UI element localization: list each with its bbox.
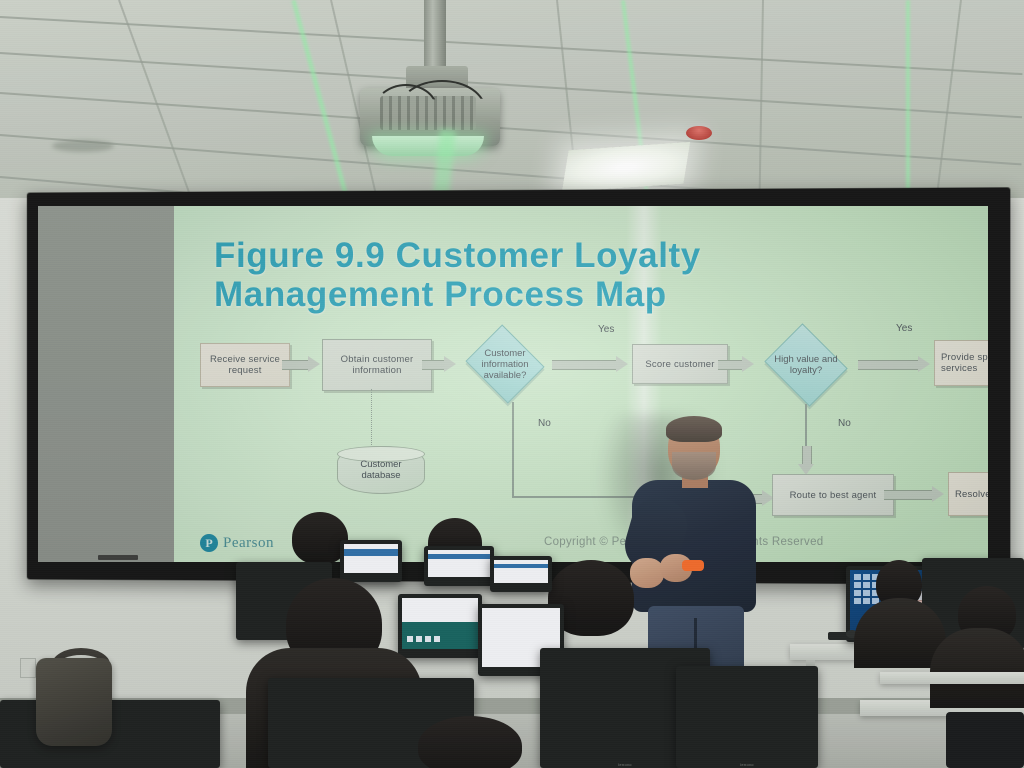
laptop-screen <box>428 550 490 577</box>
fluorescent-light-panel <box>562 142 690 192</box>
monitor: lenovo <box>676 666 818 768</box>
window-titlebar <box>494 564 548 569</box>
presenter-hair <box>666 416 722 442</box>
screen-window <box>494 560 548 583</box>
backpack <box>36 658 112 746</box>
classroom-photo-scene: Figure 9.9 Customer Loyalty Management P… <box>0 0 1024 768</box>
smoke-detector-icon <box>686 126 712 140</box>
presenter <box>622 418 762 678</box>
board-unlit-area <box>38 206 174 562</box>
laptop-screen <box>344 544 398 573</box>
monitor <box>398 594 482 658</box>
screen-window <box>402 598 478 622</box>
screen-teal-window <box>402 598 478 649</box>
projection-whiteboard: Figure 9.9 Customer Loyalty Management P… <box>20 190 1004 582</box>
suspended-ceiling <box>0 0 1024 205</box>
taskbar-dots <box>407 636 440 642</box>
monitor-logo: lenovo <box>740 762 754 767</box>
board-surface: Figure 9.9 Customer Loyalty Management P… <box>38 206 988 562</box>
ceiling-light-streak <box>905 0 911 200</box>
presenter-watch <box>682 560 704 571</box>
screen-window <box>428 550 490 577</box>
ceiling-light-streak <box>290 0 356 205</box>
board-brand-label <box>98 555 138 560</box>
presenter-hand-left <box>630 558 664 588</box>
window-titlebar <box>428 554 490 559</box>
desk <box>880 672 1024 684</box>
projector-lens <box>372 136 484 156</box>
presenter-beard <box>672 452 716 480</box>
screen-window <box>344 544 398 573</box>
wall-outlet <box>20 658 36 678</box>
chair <box>946 712 1024 768</box>
flow-node-label: Customer database <box>342 459 420 481</box>
monitor-logo: lenovo <box>618 762 632 767</box>
window-titlebar <box>344 549 398 555</box>
ceiling-stain <box>52 140 114 152</box>
slide-vignette <box>174 206 988 562</box>
projected-slide: Figure 9.9 Customer Loyalty Management P… <box>174 206 988 562</box>
laptop <box>424 546 494 586</box>
monitor-screen <box>402 598 478 649</box>
student-head <box>418 716 522 768</box>
student-shoulders <box>930 628 1024 708</box>
laptop <box>490 556 552 592</box>
laptop <box>340 540 402 582</box>
projector-mount-pole <box>424 0 446 72</box>
laptop-screen <box>494 560 548 583</box>
